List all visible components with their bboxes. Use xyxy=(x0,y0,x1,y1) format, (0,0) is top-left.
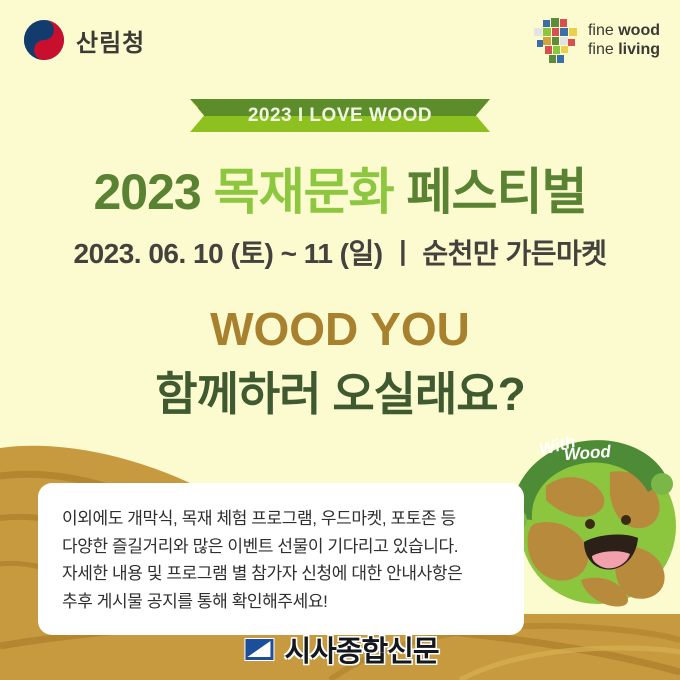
poster-root: 산림청 xyxy=(0,0,680,680)
fine-wood-line1: fine wood xyxy=(588,22,660,41)
fine-wood-wordmark: fine wood fine living xyxy=(588,22,660,60)
headline-english: WOOD YOU xyxy=(0,302,680,356)
info-line-4: 추후 게시물 공지를 통해 확인해주세요! xyxy=(62,588,500,616)
fine-wood-logo: fine wood fine living xyxy=(531,16,660,66)
title-highlight: 목재문화 xyxy=(214,164,394,220)
taeguk-logo-icon xyxy=(22,18,66,62)
forest-service-logo: 산림청 xyxy=(22,18,145,62)
page-title: 2023 목재문화 페스티벌 xyxy=(0,152,680,224)
info-line-2: 다양한 즐길거리와 많은 이벤트 선물이 기다리고 있습니다. xyxy=(62,533,500,561)
fine-wood-line2: fine living xyxy=(588,41,660,60)
title-tail: 페스티벌 xyxy=(394,164,587,220)
date-venue-line: 2023. 06. 10 (토) ~ 11 (일) ㅣ 순천만 가든마켓 xyxy=(0,232,680,272)
forest-service-name: 산림청 xyxy=(76,23,145,58)
info-line-3: 자세한 내용 및 프로그램 별 참가자 신청에 대한 안내사항은 xyxy=(62,560,500,588)
open-book-icon xyxy=(241,634,277,664)
ribbon-label: 2023 I LOVE WOOD xyxy=(190,99,490,132)
mosaic-figure-icon xyxy=(531,16,579,66)
info-line-1: 이외에도 개막식, 목재 체험 프로그램, 우드마켓, 포토존 등 xyxy=(62,505,500,533)
press-name: 시사종합신문 xyxy=(284,628,438,670)
ribbon-banner: 2023 I LOVE WOOD xyxy=(190,99,490,132)
press-logo: 시사종합신문 xyxy=(241,628,438,670)
title-year: 2023 xyxy=(93,164,213,220)
info-card: 이외에도 개막식, 목재 체험 프로그램, 우드마켓, 포토존 등 다양한 즐길… xyxy=(38,483,524,635)
